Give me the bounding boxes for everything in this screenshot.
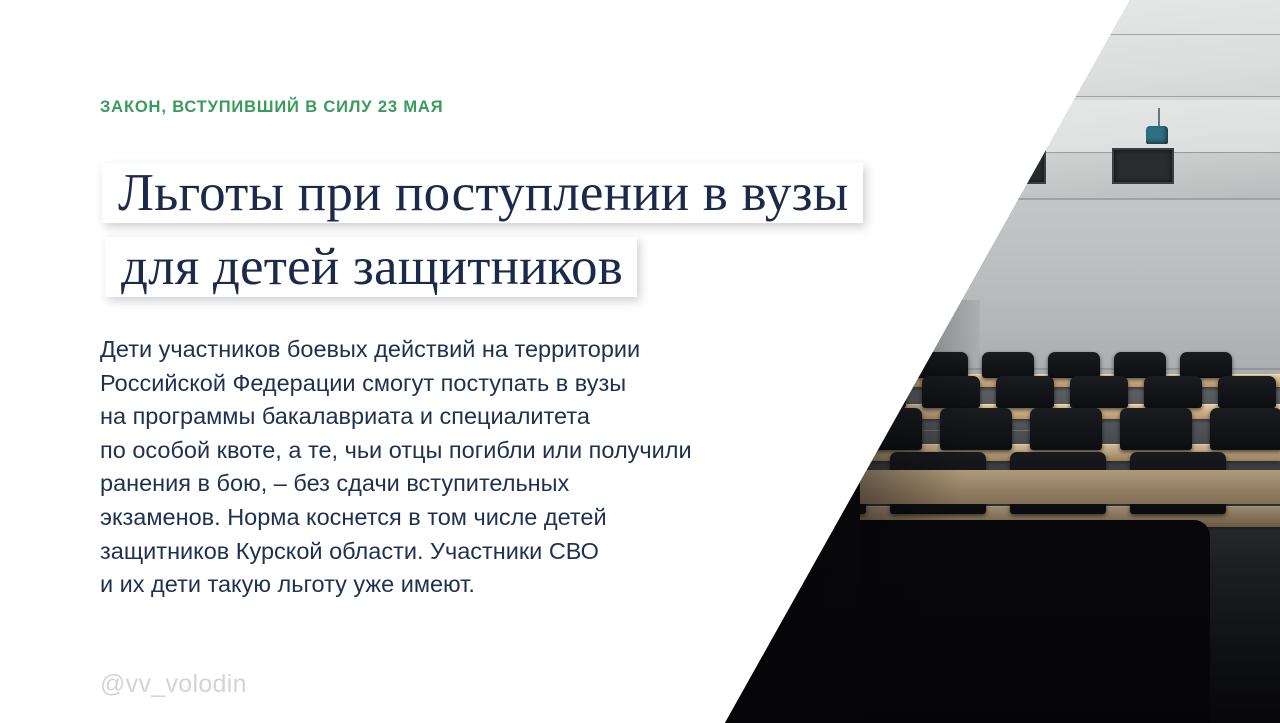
chair xyxy=(1144,376,1202,408)
stage-lamp-icon xyxy=(796,126,820,146)
ceiling-band xyxy=(660,100,1280,152)
ceiling-line xyxy=(660,34,1280,35)
ceiling-rig xyxy=(856,146,922,184)
rig-bar xyxy=(976,142,1048,145)
rig-bar xyxy=(692,140,782,143)
chair xyxy=(1048,352,1100,378)
ceiling-line xyxy=(660,152,1280,153)
author-handle: @vv_volodin xyxy=(100,670,247,699)
lamp-stem xyxy=(808,110,810,128)
eyebrow-label: ЗАКОН, ВСТУПИВШИЙ В СИЛУ 23 МАЯ xyxy=(100,98,443,117)
lamp-stem xyxy=(904,104,906,126)
ceiling-rig xyxy=(1112,148,1174,184)
stage-lamp-icon xyxy=(892,124,916,144)
chair xyxy=(1114,352,1166,378)
stage-lamp-icon xyxy=(1020,124,1044,144)
chair xyxy=(850,352,902,378)
page-title-line-1-text: Льготы при поступлении в вузы xyxy=(118,167,849,220)
chair xyxy=(1070,376,1128,408)
chair xyxy=(848,376,906,408)
body-paragraph: Дети участников боевых действий на терри… xyxy=(100,333,800,602)
slide-root: ЗАКОН, ВСТУПИВШИЙ В СИЛУ 23 МАЯ Льготы п… xyxy=(0,0,1280,723)
chair xyxy=(1218,376,1276,408)
ceiling-duct xyxy=(700,88,800,118)
chair xyxy=(996,376,1054,408)
ceiling-rig xyxy=(980,146,1046,184)
stage-lamp-icon xyxy=(1146,126,1168,144)
rig-bar xyxy=(852,142,924,145)
ceiling-line xyxy=(660,96,1280,97)
lamp-stem xyxy=(1032,104,1034,126)
cable-reel-icon xyxy=(748,104,778,134)
chair xyxy=(982,352,1034,378)
lamp-stem xyxy=(1158,108,1160,128)
rig-support xyxy=(776,112,779,142)
chair xyxy=(1180,352,1232,378)
page-title-line-2-text: для детей защитников xyxy=(121,241,623,294)
page-title-line-1: Льготы при поступлении в вузы xyxy=(102,163,863,223)
page-title-line-2: для детей защитников xyxy=(105,237,637,297)
